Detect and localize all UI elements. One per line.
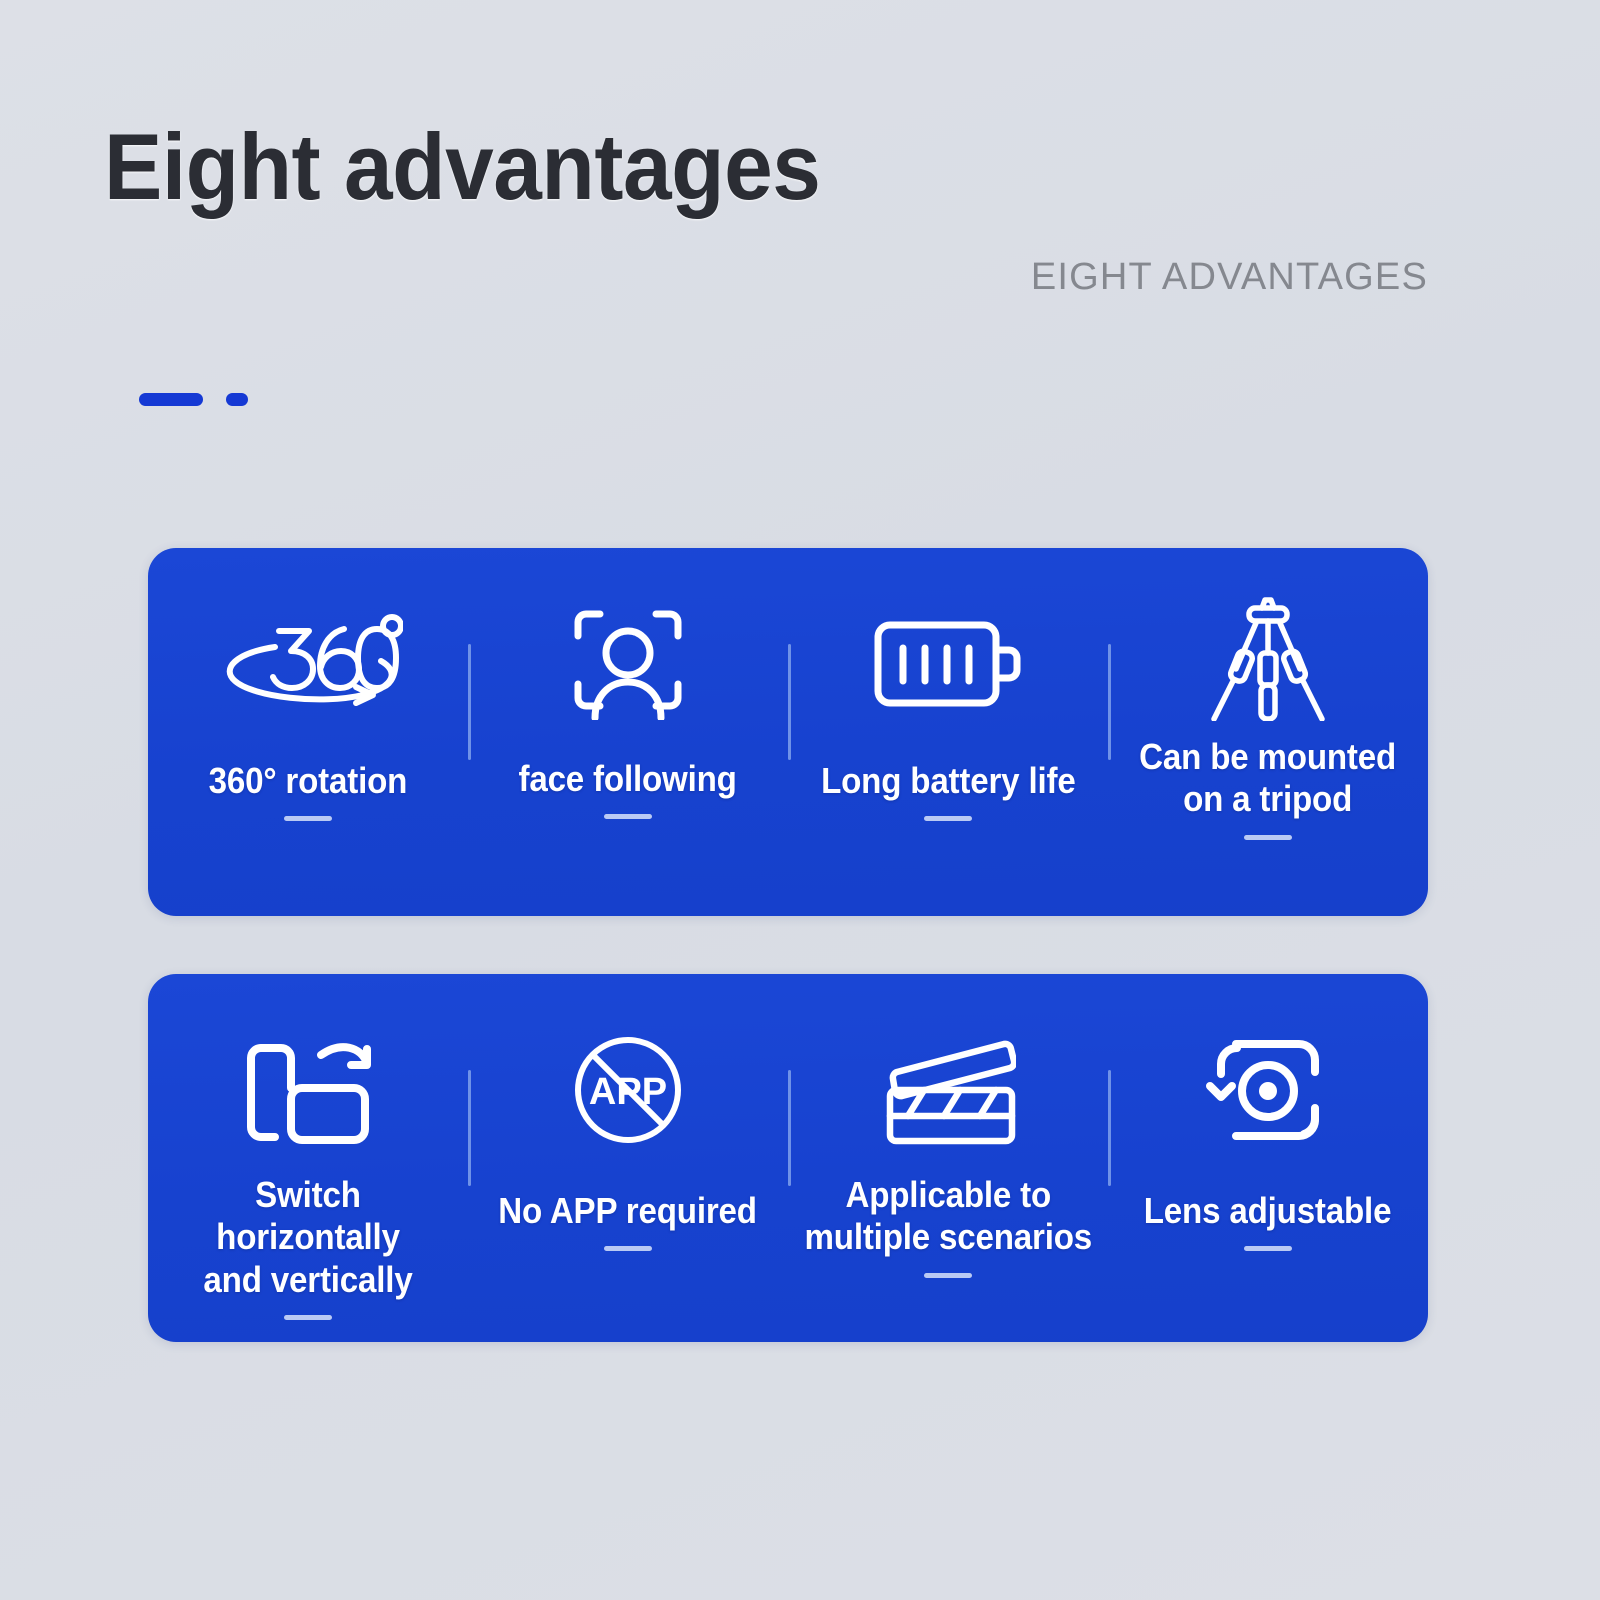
accent-dot-icon — [226, 393, 248, 406]
clapperboard-icon — [880, 1020, 1016, 1160]
battery-icon — [873, 594, 1023, 734]
accent-decoration — [139, 393, 248, 406]
page-title: Eight advantages — [104, 118, 820, 217]
feature-label: Applicable to multiple scenarios — [804, 1174, 1092, 1259]
label-underline — [604, 814, 652, 819]
feature-label: Switch horizontally and vertically — [161, 1174, 455, 1301]
feature-multiple-scenarios[interactable]: Applicable to multiple scenarios — [788, 974, 1108, 1342]
page-subtitle: EIGHT ADVANTAGES — [1031, 256, 1428, 299]
accent-dash-icon — [139, 393, 203, 406]
feature-label: No APP required — [499, 1190, 758, 1232]
label-underline — [924, 816, 972, 821]
page-header: Eight advantages EIGHT ADVANTAGES — [0, 0, 1600, 470]
feature-long-battery-life[interactable]: Long battery life — [788, 548, 1108, 916]
no-app-icon: APP — [572, 1020, 684, 1160]
feature-label: Can be mounted on a tripod — [1140, 736, 1397, 821]
feature-label: Long battery life — [821, 760, 1075, 802]
tripod-icon — [1206, 594, 1330, 722]
feature-no-app-required[interactable]: APP No APP required — [468, 974, 788, 1342]
feature-label: face following — [519, 758, 737, 800]
label-underline — [924, 1273, 972, 1278]
label-underline — [284, 816, 332, 821]
advantages-row-1: 360° rotation face following — [148, 548, 1428, 916]
feature-label: Lens adjustable — [1144, 1190, 1392, 1232]
label-underline — [284, 1315, 332, 1320]
label-underline — [1244, 835, 1292, 840]
feature-face-following[interactable]: face following — [468, 548, 788, 916]
advantages-grid: 360° rotation face following — [148, 548, 1428, 1342]
feature-360-rotation[interactable]: 360° rotation — [148, 548, 468, 916]
360-rotation-icon — [213, 594, 403, 734]
lens-adjust-icon — [1205, 1020, 1331, 1160]
feature-switch-orientation[interactable]: Switch horizontally and vertically — [148, 974, 468, 1342]
label-underline — [604, 1246, 652, 1251]
label-underline — [1244, 1246, 1292, 1251]
feature-label: 360° rotation — [209, 760, 408, 802]
feature-tripod-mount[interactable]: Can be mounted on a tripod — [1108, 548, 1428, 916]
feature-lens-adjustable[interactable]: Lens adjustable — [1108, 974, 1428, 1342]
advantages-row-2: Switch horizontally and vertically APP N… — [148, 974, 1428, 1342]
screen-rotate-icon — [245, 1020, 371, 1160]
svg-text:APP: APP — [589, 1071, 667, 1113]
face-following-icon — [572, 594, 684, 734]
